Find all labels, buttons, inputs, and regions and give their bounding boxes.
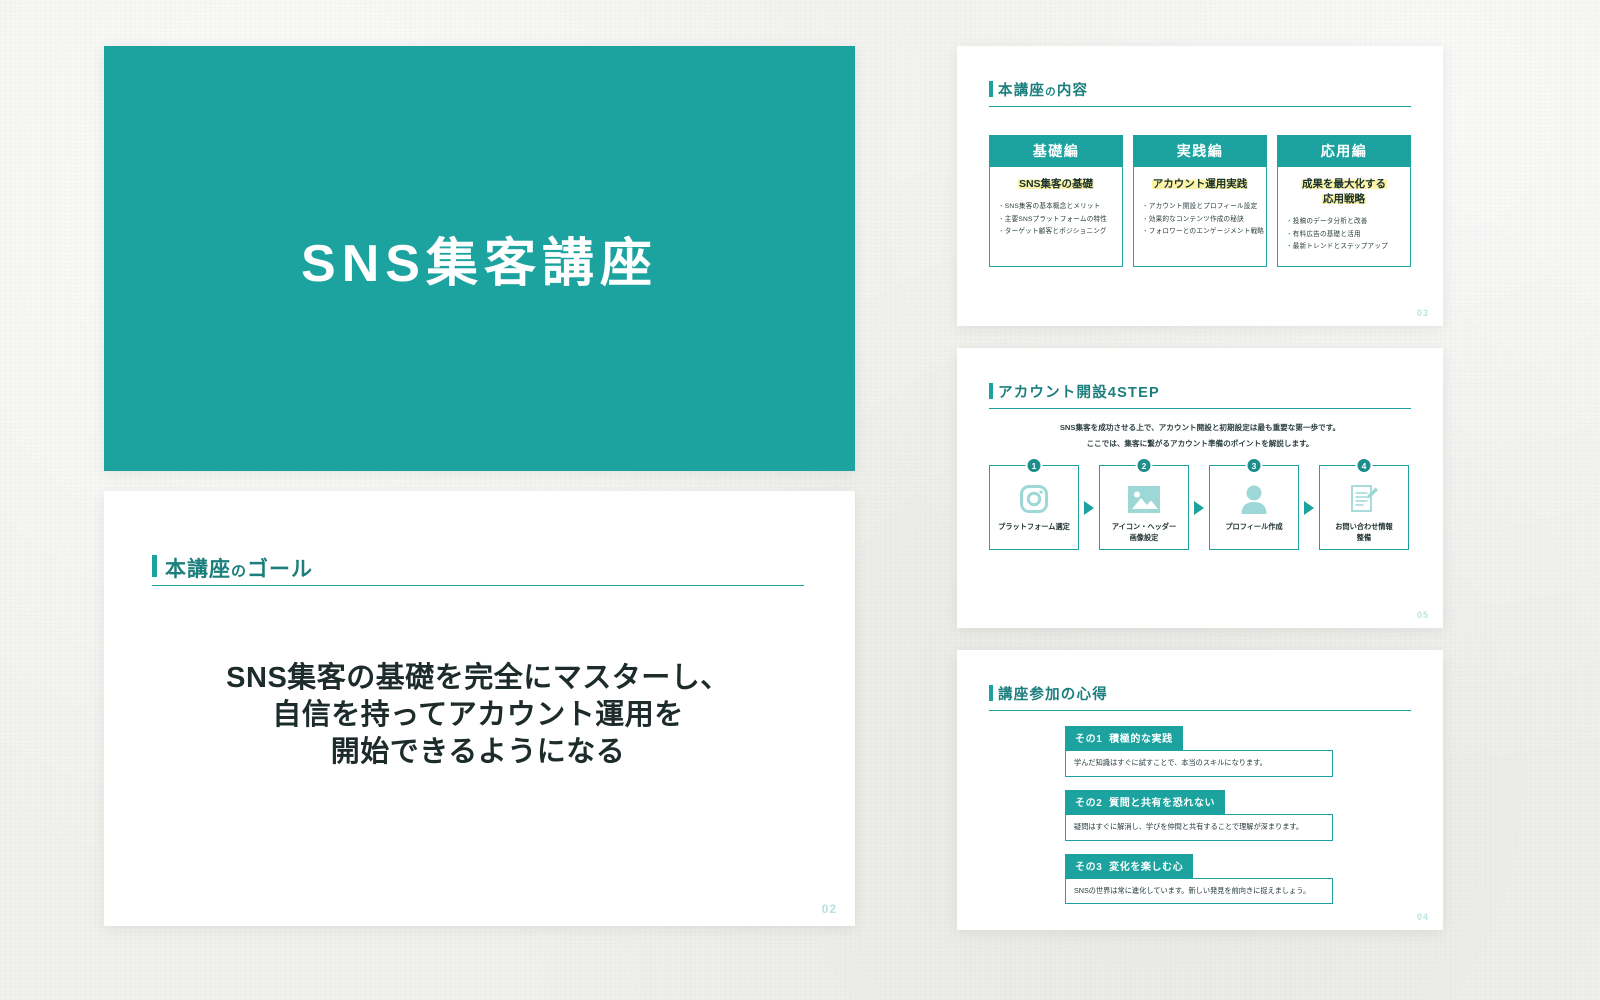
arrow-right-icon bbox=[1299, 501, 1319, 515]
mindset-item: その2 質問と共有を恐れない 疑問はすぐに解消し、学びを仲間と共有することで理解… bbox=[1065, 790, 1333, 841]
card-header: 基礎編 bbox=[990, 136, 1122, 167]
mindset-item-header: その3 変化を楽しむ心 bbox=[1065, 854, 1193, 878]
heading-accent-bar bbox=[989, 685, 993, 701]
mindset-heading-text: 講座参加の心得 bbox=[998, 687, 1108, 703]
card-header: 実践編 bbox=[1134, 136, 1266, 167]
card-subtitle: アカウント運用実践 bbox=[1142, 177, 1258, 192]
page-number: 05 bbox=[1417, 610, 1429, 620]
goal-body-text: SNS集客の基礎を完全にマスターし、 自信を持ってアカウント運用を 開始できるよ… bbox=[152, 660, 804, 771]
step-number-badge: 4 bbox=[1356, 457, 1373, 474]
mindset-section-heading: 講座参加の心得 bbox=[989, 683, 1108, 704]
content-heading-text: 本講座の内容 bbox=[998, 83, 1088, 99]
heading-accent-bar bbox=[989, 383, 993, 399]
content-card: 実践編 アカウント運用実践 アカウント開設とプロフィール設定 効果的なコンテンツ… bbox=[1133, 135, 1267, 267]
slide-account-steps: アカウント開設4STEP SNS集客を成功させる上で、アカウント開設と初期設定は… bbox=[957, 348, 1443, 628]
heading-accent-bar bbox=[989, 81, 993, 97]
card-bullet-list: SNS集客の基本概念とメリット 主要SNSプラットフォームの特性 ターゲット顧客… bbox=[998, 201, 1114, 239]
content-card-row: 基礎編 SNS集客の基礎 SNS集客の基本概念とメリット 主要SNSプラットフォ… bbox=[989, 135, 1411, 267]
step-number-badge: 3 bbox=[1246, 457, 1263, 474]
steps-lead-text: SNS集客を成功させる上で、アカウント開設と初期設定は最も重要な第一歩です。 こ… bbox=[989, 420, 1411, 451]
goal-heading-text: 本講座のゴール bbox=[165, 558, 313, 581]
mindset-item-header: その2 質問と共有を恐れない bbox=[1065, 790, 1225, 814]
steps-row: 1 プラットフォーム選定 2 アイコン・ヘッダー画像設定 bbox=[989, 465, 1409, 550]
mindset-item-body: SNSの世界は常に進化しています。新しい発見を前向きに捉えましょう。 bbox=[1065, 878, 1333, 905]
slide-mindset: 講座参加の心得 その1 積極的な実践 学んだ知識はすぐに試すことで、本当のスキル… bbox=[957, 650, 1443, 930]
page-number: 04 bbox=[1417, 912, 1429, 922]
image-icon bbox=[1128, 482, 1160, 516]
content-card: 基礎編 SNS集客の基礎 SNS集客の基本概念とメリット 主要SNSプラットフォ… bbox=[989, 135, 1123, 267]
step-card: 3 プロフィール作成 bbox=[1209, 465, 1299, 550]
content-section-heading: 本講座の内容 bbox=[989, 79, 1088, 100]
step-label: プラットフォーム選定 bbox=[995, 522, 1073, 533]
slide-title: SNS集客講座 bbox=[104, 46, 855, 471]
document-pen-icon bbox=[1349, 482, 1379, 516]
card-bullet: SNS集客の基本概念とメリット bbox=[998, 201, 1114, 214]
mindset-list: その1 積極的な実践 学んだ知識はすぐに試すことで、本当のスキルになります。 そ… bbox=[1065, 726, 1333, 917]
card-bullet: 効果的なコンテンツ作成の秘訣 bbox=[1142, 214, 1258, 227]
goal-line-2: 自信を持ってアカウント運用を bbox=[152, 697, 804, 734]
steps-heading-text: アカウント開設4STEP bbox=[998, 385, 1160, 401]
card-subtitle: SNS集客の基礎 bbox=[998, 177, 1114, 192]
mindset-heading-rule bbox=[989, 710, 1411, 711]
mindset-item-body: 学んだ知識はすぐに試すことで、本当のスキルになります。 bbox=[1065, 750, 1333, 777]
step-number-badge: 2 bbox=[1136, 457, 1153, 474]
card-bullet: 有料広告の基礎と活用 bbox=[1286, 229, 1402, 242]
person-icon bbox=[1240, 482, 1268, 516]
goal-section-heading: 本講座のゴール bbox=[152, 553, 313, 583]
card-bullet: 主要SNSプラットフォームの特性 bbox=[998, 214, 1114, 227]
mindset-item-header: その1 積極的な実践 bbox=[1065, 726, 1183, 750]
page-number: 03 bbox=[1417, 308, 1429, 318]
arrow-right-icon bbox=[1079, 501, 1099, 515]
mindset-item: その1 積極的な実践 学んだ知識はすぐに試すことで、本当のスキルになります。 bbox=[1065, 726, 1333, 777]
slide-course-content: 本講座の内容 基礎編 SNS集客の基礎 SNS集客の基本概念とメリット 主要SN… bbox=[957, 46, 1443, 326]
card-bullet-list: 投稿のデータ分析と改善 有料広告の基礎と活用 最新トレンドとステップアップ bbox=[1286, 216, 1402, 254]
card-body: SNS集客の基礎 SNS集客の基本概念とメリット 主要SNSプラットフォームの特… bbox=[990, 167, 1122, 251]
steps-section-heading: アカウント開設4STEP bbox=[989, 381, 1160, 402]
step-card: 2 アイコン・ヘッダー画像設定 bbox=[1099, 465, 1189, 550]
card-bullet: アカウント開設とプロフィール設定 bbox=[1142, 201, 1258, 214]
card-subtitle: 成果を最大化する応用戦略 bbox=[1286, 177, 1402, 207]
course-title: SNS集客講座 bbox=[301, 221, 658, 296]
step-label: プロフィール作成 bbox=[1222, 522, 1285, 533]
step-card: 4 お問い合わせ情報整備 bbox=[1319, 465, 1409, 550]
goal-line-3: 開始できるようになる bbox=[152, 734, 804, 771]
step-card: 1 プラットフォーム選定 bbox=[989, 465, 1079, 550]
step-label: お問い合わせ情報整備 bbox=[1332, 522, 1396, 544]
heading-accent-bar bbox=[152, 555, 157, 577]
card-bullet: ターゲット顧客とポジショニング bbox=[998, 226, 1114, 239]
page-number: 02 bbox=[822, 902, 837, 916]
card-bullet: 投稿のデータ分析と改善 bbox=[1286, 216, 1402, 229]
mindset-item-body: 疑問はすぐに解消し、学びを仲間と共有することで理解が深まります。 bbox=[1065, 814, 1333, 841]
arrow-right-icon bbox=[1189, 501, 1209, 515]
step-label: アイコン・ヘッダー画像設定 bbox=[1109, 522, 1179, 544]
steps-heading-rule bbox=[989, 408, 1411, 409]
card-bullet-list: アカウント開設とプロフィール設定 効果的なコンテンツ作成の秘訣 フォロワーとのエ… bbox=[1142, 201, 1258, 239]
card-body: アカウント運用実践 アカウント開設とプロフィール設定 効果的なコンテンツ作成の秘… bbox=[1134, 167, 1266, 251]
steps-lead-line-1: SNS集客を成功させる上で、アカウント開設と初期設定は最も重要な第一歩です。 bbox=[989, 420, 1411, 436]
card-bullet: フォロワーとのエンゲージメント戦略 bbox=[1142, 226, 1258, 239]
goal-line-1: SNS集客の基礎を完全にマスターし、 bbox=[152, 660, 804, 697]
card-bullet: 最新トレンドとステップアップ bbox=[1286, 241, 1402, 254]
steps-lead-line-2: ここでは、集客に繋がるアカウント準備のポイントを解説します。 bbox=[989, 436, 1411, 452]
content-heading-rule bbox=[989, 106, 1411, 107]
mindset-item: その3 変化を楽しむ心 SNSの世界は常に進化しています。新しい発見を前向きに捉… bbox=[1065, 854, 1333, 905]
instagram-icon bbox=[1019, 482, 1049, 516]
step-number-badge: 1 bbox=[1026, 457, 1043, 474]
goal-heading-rule bbox=[152, 585, 804, 586]
card-body: 成果を最大化する応用戦略 投稿のデータ分析と改善 有料広告の基礎と活用 最新トレ… bbox=[1278, 167, 1410, 266]
card-header: 応用編 bbox=[1278, 136, 1410, 167]
content-card: 応用編 成果を最大化する応用戦略 投稿のデータ分析と改善 有料広告の基礎と活用 … bbox=[1277, 135, 1411, 267]
